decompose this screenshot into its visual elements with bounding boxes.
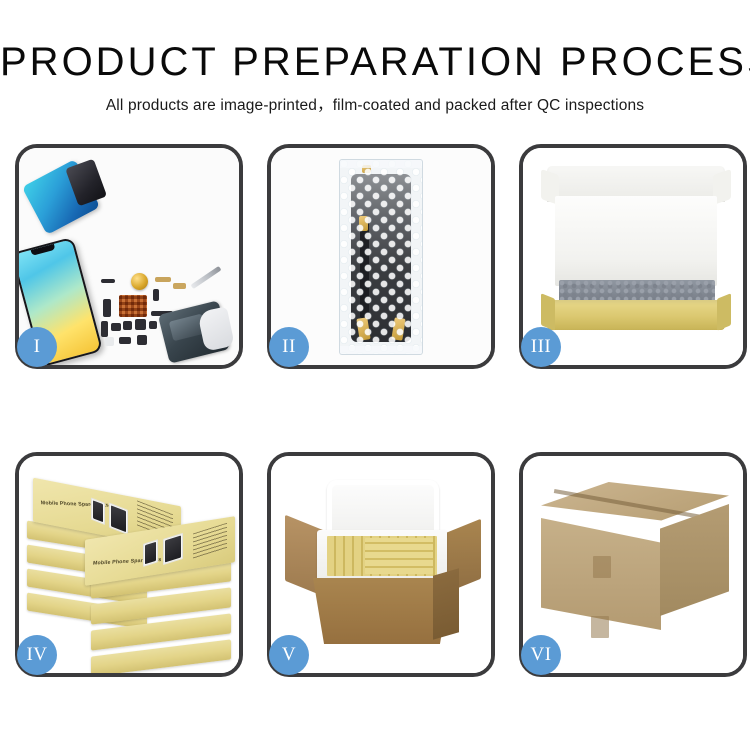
step-1-image (19, 148, 239, 365)
small-part (101, 279, 115, 283)
bag-seal-bottom (340, 346, 422, 354)
process-step-4: Mobile Phone Spare Parts Mobile Phone Sp… (15, 452, 243, 677)
tweezer-tool (191, 266, 222, 289)
packed-yellow-boxes-row2 (365, 538, 433, 574)
open-inner-box (541, 166, 731, 336)
step-2-numeral-badge: II (269, 327, 309, 367)
process-step-3: III (519, 144, 747, 369)
step-5-numeral-badge: V (269, 635, 309, 675)
carton-front-panel (313, 578, 451, 644)
carton-tape-mark (593, 556, 611, 578)
small-part (111, 323, 121, 331)
small-part (149, 321, 157, 329)
step-6-image (523, 456, 743, 673)
page-subtitle: All products are image-printed，film-coat… (0, 93, 750, 115)
small-part (135, 319, 146, 330)
small-part (105, 337, 114, 346)
carton-tape-mark (591, 616, 609, 638)
step-6-numeral-badge: VI (521, 635, 561, 675)
spare-parts-cluster (101, 269, 221, 359)
box-front-yellow (547, 300, 725, 330)
box-window (109, 503, 128, 535)
process-step-2: II (267, 144, 495, 369)
step-1-numeral-badge: I (17, 327, 57, 367)
small-part (103, 299, 111, 317)
step-4-numeral-badge: IV (17, 635, 57, 675)
step-2-image (271, 148, 491, 365)
process-step-1: I (15, 144, 243, 369)
bubble-texture (340, 160, 422, 354)
small-part (119, 337, 131, 344)
box-spec-lines (193, 523, 227, 560)
page-root: PRODUCT PREPARATION PROCESS All products… (0, 0, 750, 750)
small-part (153, 289, 159, 301)
carton-right-face (660, 504, 729, 616)
page-title: PRODUCT PREPARATION PROCESS (0, 40, 750, 84)
process-step-grid: I II (15, 144, 735, 674)
small-part (155, 277, 171, 282)
step-4-image: Mobile Phone Spare Parts Mobile Phone Sp… (19, 456, 239, 673)
page-header: PRODUCT PREPARATION PROCESS All products… (0, 40, 750, 115)
process-step-5: V (267, 452, 495, 677)
small-part (101, 321, 108, 337)
sealed-shipping-carton (541, 482, 729, 644)
white-foam-sheet (555, 196, 717, 286)
box-window (163, 533, 183, 565)
carton-side-panel (433, 568, 459, 639)
step-3-image (523, 148, 743, 365)
process-step-6: VI (519, 452, 747, 677)
bubble-wrap-bag (339, 159, 423, 355)
open-shipping-carton (285, 472, 481, 652)
small-part (173, 283, 186, 289)
gold-coil-part (131, 273, 148, 290)
small-part (123, 321, 132, 330)
step-3-numeral-badge: III (521, 327, 561, 367)
copper-mesh-part (119, 295, 147, 317)
bag-seal-top (340, 160, 422, 168)
box-window (143, 539, 158, 567)
retail-box-stack: Mobile Phone Spare Parts Mobile Phone Sp… (27, 478, 233, 658)
step-5-image (271, 456, 491, 673)
small-part (137, 335, 147, 345)
box-window (91, 498, 105, 525)
